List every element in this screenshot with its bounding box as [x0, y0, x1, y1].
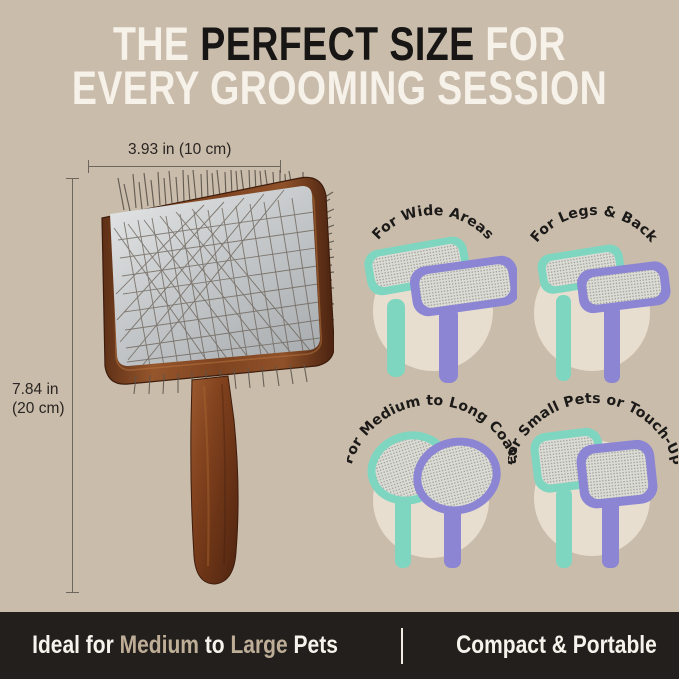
width-dimension-line — [88, 166, 280, 167]
height-dimension-label-line2: (20 cm) — [12, 400, 65, 419]
headline: THE PERFECT SIZE FOR EVERY GROOMING SESS… — [0, 22, 679, 110]
height-dimension-cap-bottom — [66, 592, 79, 593]
width-dimension-label: 3.93 in (10 cm) — [128, 141, 231, 160]
footer-right-text: Compact & Portable — [456, 631, 657, 660]
headline-line-2: EVERY GROOMING SESSION — [68, 66, 611, 110]
usecase-quadrant-small-pets-touchup: For Small Pets or Touch-Up — [508, 388, 678, 568]
height-dimension-label: 7.84 in (20 cm) — [12, 381, 65, 419]
footer-divider — [401, 628, 403, 664]
footer-left-text: Ideal for Medium to Large Pets — [32, 631, 338, 660]
footer-left-part3: Pets — [288, 631, 338, 659]
infographic-page: THE PERFECT SIZE FOR EVERY GROOMING SESS… — [0, 0, 679, 679]
height-dimension-line — [72, 178, 73, 592]
main-product-image — [84, 170, 334, 600]
brush-handle — [191, 376, 238, 584]
footer-left-part2: to — [199, 631, 231, 659]
footer-bar: Ideal for Medium to Large Pets Compact &… — [0, 612, 679, 679]
footer-accent-medium: Medium — [120, 631, 199, 659]
quadrant-label: For Wide Areas — [369, 203, 496, 243]
usecase-quadrant-medium-long-coats: For Medium to Long Coats — [347, 388, 517, 568]
headline-line-1: THE PERFECT SIZE FOR — [68, 22, 611, 66]
footer-accent-large: Large — [231, 631, 288, 659]
height-dimension-label-line1: 7.84 in — [12, 381, 65, 400]
height-dimension-cap-top — [66, 178, 79, 179]
quadrant-label: For Legs & Back — [528, 203, 661, 246]
footer-left-part1: Ideal for — [32, 631, 120, 659]
usecase-quadrant-legs-back: For Legs & Back — [508, 203, 678, 383]
usecase-quadrant-wide-areas: For Wide Areas — [347, 203, 517, 383]
